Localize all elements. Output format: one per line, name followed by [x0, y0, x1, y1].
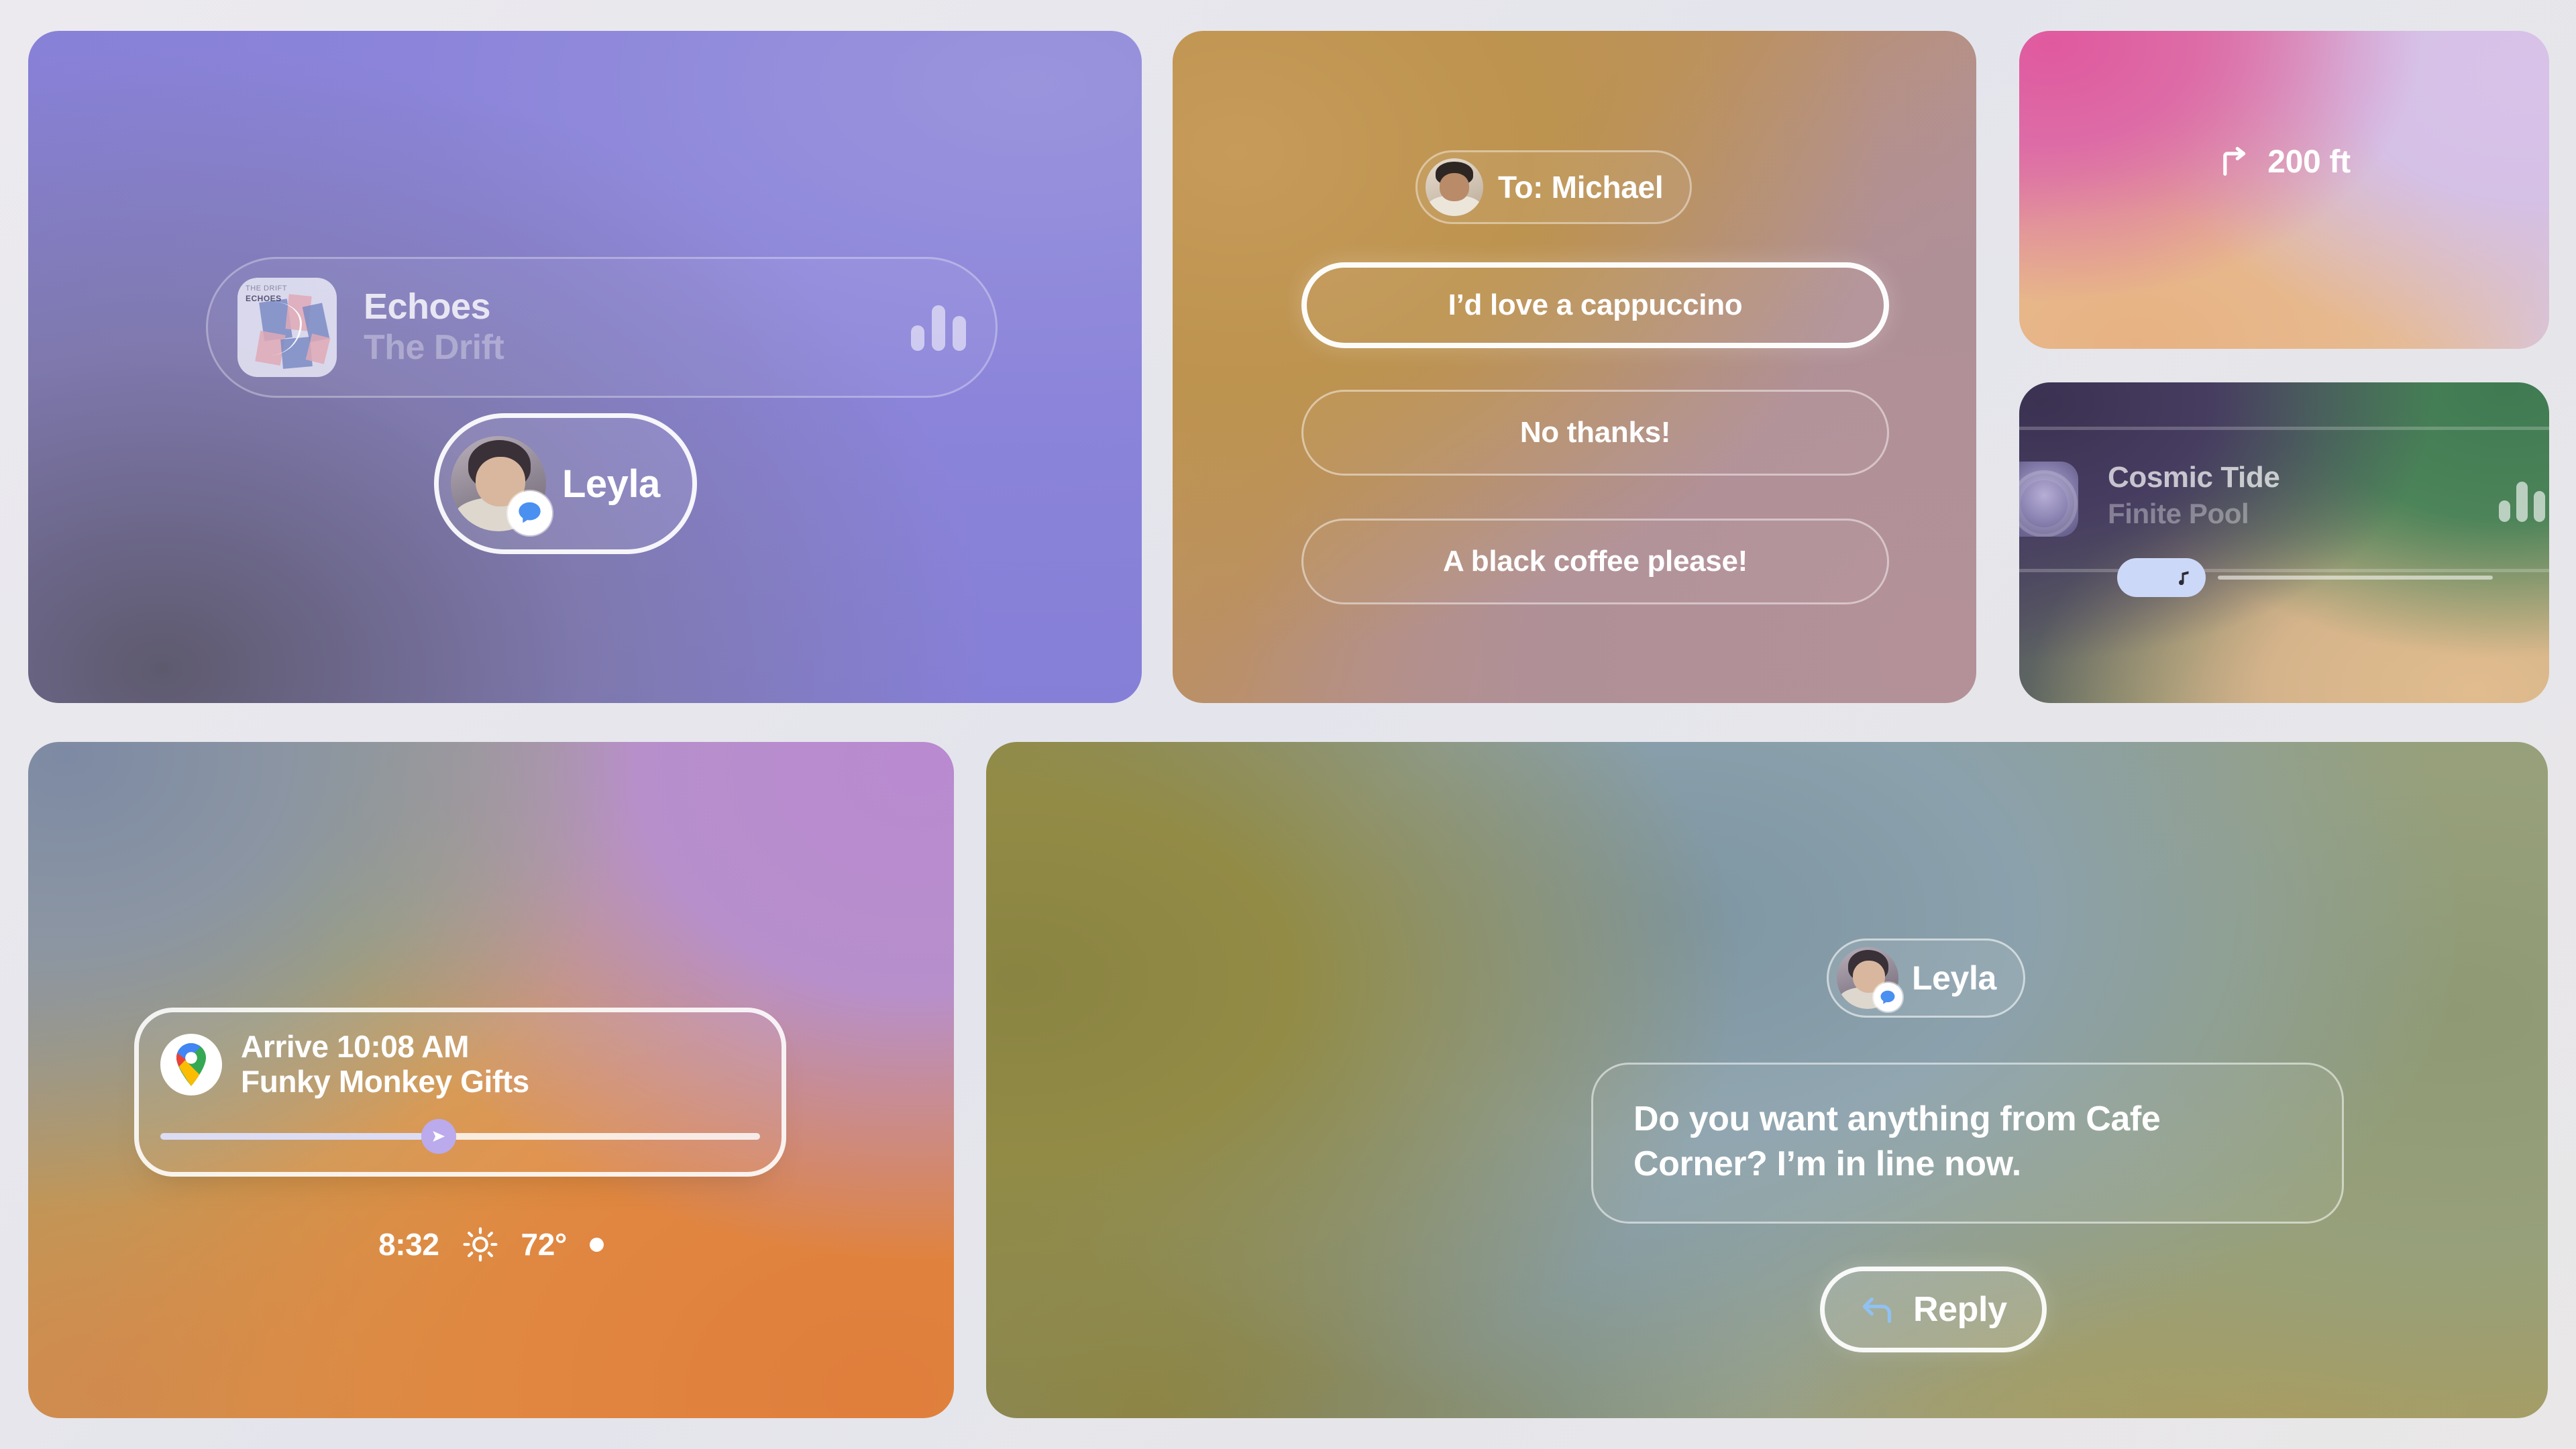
album-art-label: THE DRIFT ECHOES — [246, 284, 287, 304]
card-nav-distance[interactable]: 200 ft — [2019, 31, 2549, 349]
maps-arrival-panel[interactable]: Arrive 10:08 AM Funky Monkey Gifts — [134, 1008, 786, 1177]
quick-reply-option[interactable]: A black coffee please! — [1301, 519, 1889, 604]
temperature: 72° — [521, 1226, 567, 1263]
nav-distance-row: 200 ft — [2019, 144, 2549, 180]
card-maps-arrival[interactable]: Arrive 10:08 AM Funky Monkey Gifts 8:32 — [28, 742, 954, 1418]
message-text: Do you want anything from Cafe Corner? I… — [1633, 1097, 2302, 1186]
scrubber-track[interactable] — [2218, 576, 2493, 580]
track-title: Echoes — [364, 288, 884, 326]
album-art: THE DRIFT ECHOES — [237, 278, 337, 377]
messages-badge-icon — [1874, 983, 1902, 1011]
reply-button-label: Reply — [1913, 1289, 2007, 1330]
sender-name: Leyla — [1912, 959, 1996, 998]
track-artist: Finite Pool — [2108, 498, 2279, 530]
navigation-arrow-icon[interactable] — [421, 1119, 456, 1154]
avatar — [1837, 947, 1898, 1009]
google-maps-pin-icon — [159, 1032, 223, 1097]
arrival-time: Arrive 10:08 AM — [241, 1030, 529, 1065]
track-artist: The Drift — [364, 329, 884, 367]
sun-icon — [462, 1226, 498, 1263]
contact-name: Leyla — [562, 462, 660, 506]
recipient-chip[interactable]: To: Michael — [1415, 150, 1692, 224]
card-music-echoes[interactable]: THE DRIFT ECHOES Echoes The Drift Leyla — [28, 31, 1142, 703]
route-progress-slider[interactable] — [160, 1125, 760, 1148]
message-bubble: Do you want anything from Cafe Corner? I… — [1591, 1063, 2344, 1224]
track-meta: Echoes The Drift — [364, 288, 884, 367]
track-meta: Cosmic Tide Finite Pool — [2108, 462, 2279, 531]
divider — [2019, 427, 2549, 430]
reply-button[interactable]: Reply — [1820, 1267, 2047, 1352]
quick-reply-option[interactable]: I’d love a cappuccino — [1301, 262, 1889, 348]
recipient-label: To: Michael — [1498, 169, 1663, 205]
widget-canvas: THE DRIFT ECHOES Echoes The Drift Leyla — [0, 0, 2576, 1449]
equalizer-bars-icon — [2499, 480, 2545, 522]
clock: 8:32 — [378, 1226, 439, 1263]
avatar — [1426, 158, 1483, 216]
track-title: Cosmic Tide — [2108, 462, 2279, 494]
card-message-thread[interactable]: Leyla Do you want anything from Cafe Cor… — [986, 742, 2548, 1418]
equalizer-bars-icon — [911, 304, 966, 351]
card-quick-replies[interactable]: To: Michael I’d love a cappuccino No tha… — [1173, 31, 1976, 703]
destination-name: Funky Monkey Gifts — [241, 1065, 529, 1099]
route-progress-fill — [160, 1133, 424, 1140]
scrubber-handle[interactable] — [2117, 558, 2206, 597]
now-playing-pill[interactable]: THE DRIFT ECHOES Echoes The Drift — [206, 257, 998, 398]
scrubber[interactable] — [2117, 558, 2493, 597]
messages-badge-icon — [508, 491, 551, 535]
status-dot — [590, 1238, 604, 1252]
card-music-cosmic[interactable]: Cosmic Tide Finite Pool — [2019, 382, 2549, 703]
album-art — [2019, 462, 2078, 537]
route-progress-track — [453, 1133, 760, 1140]
nav-distance-value: 200 ft — [2267, 144, 2351, 180]
quick-reply-option[interactable]: No thanks! — [1301, 390, 1889, 476]
music-note-icon — [2173, 566, 2194, 589]
avatar — [451, 436, 546, 531]
status-row: 8:32 72° — [28, 1226, 954, 1263]
reply-arrow-icon — [1860, 1293, 1896, 1326]
turn-right-icon — [2218, 145, 2253, 180]
sender-chip-leyla[interactable]: Leyla — [1827, 938, 2025, 1018]
contact-chip-leyla[interactable]: Leyla — [434, 413, 697, 554]
